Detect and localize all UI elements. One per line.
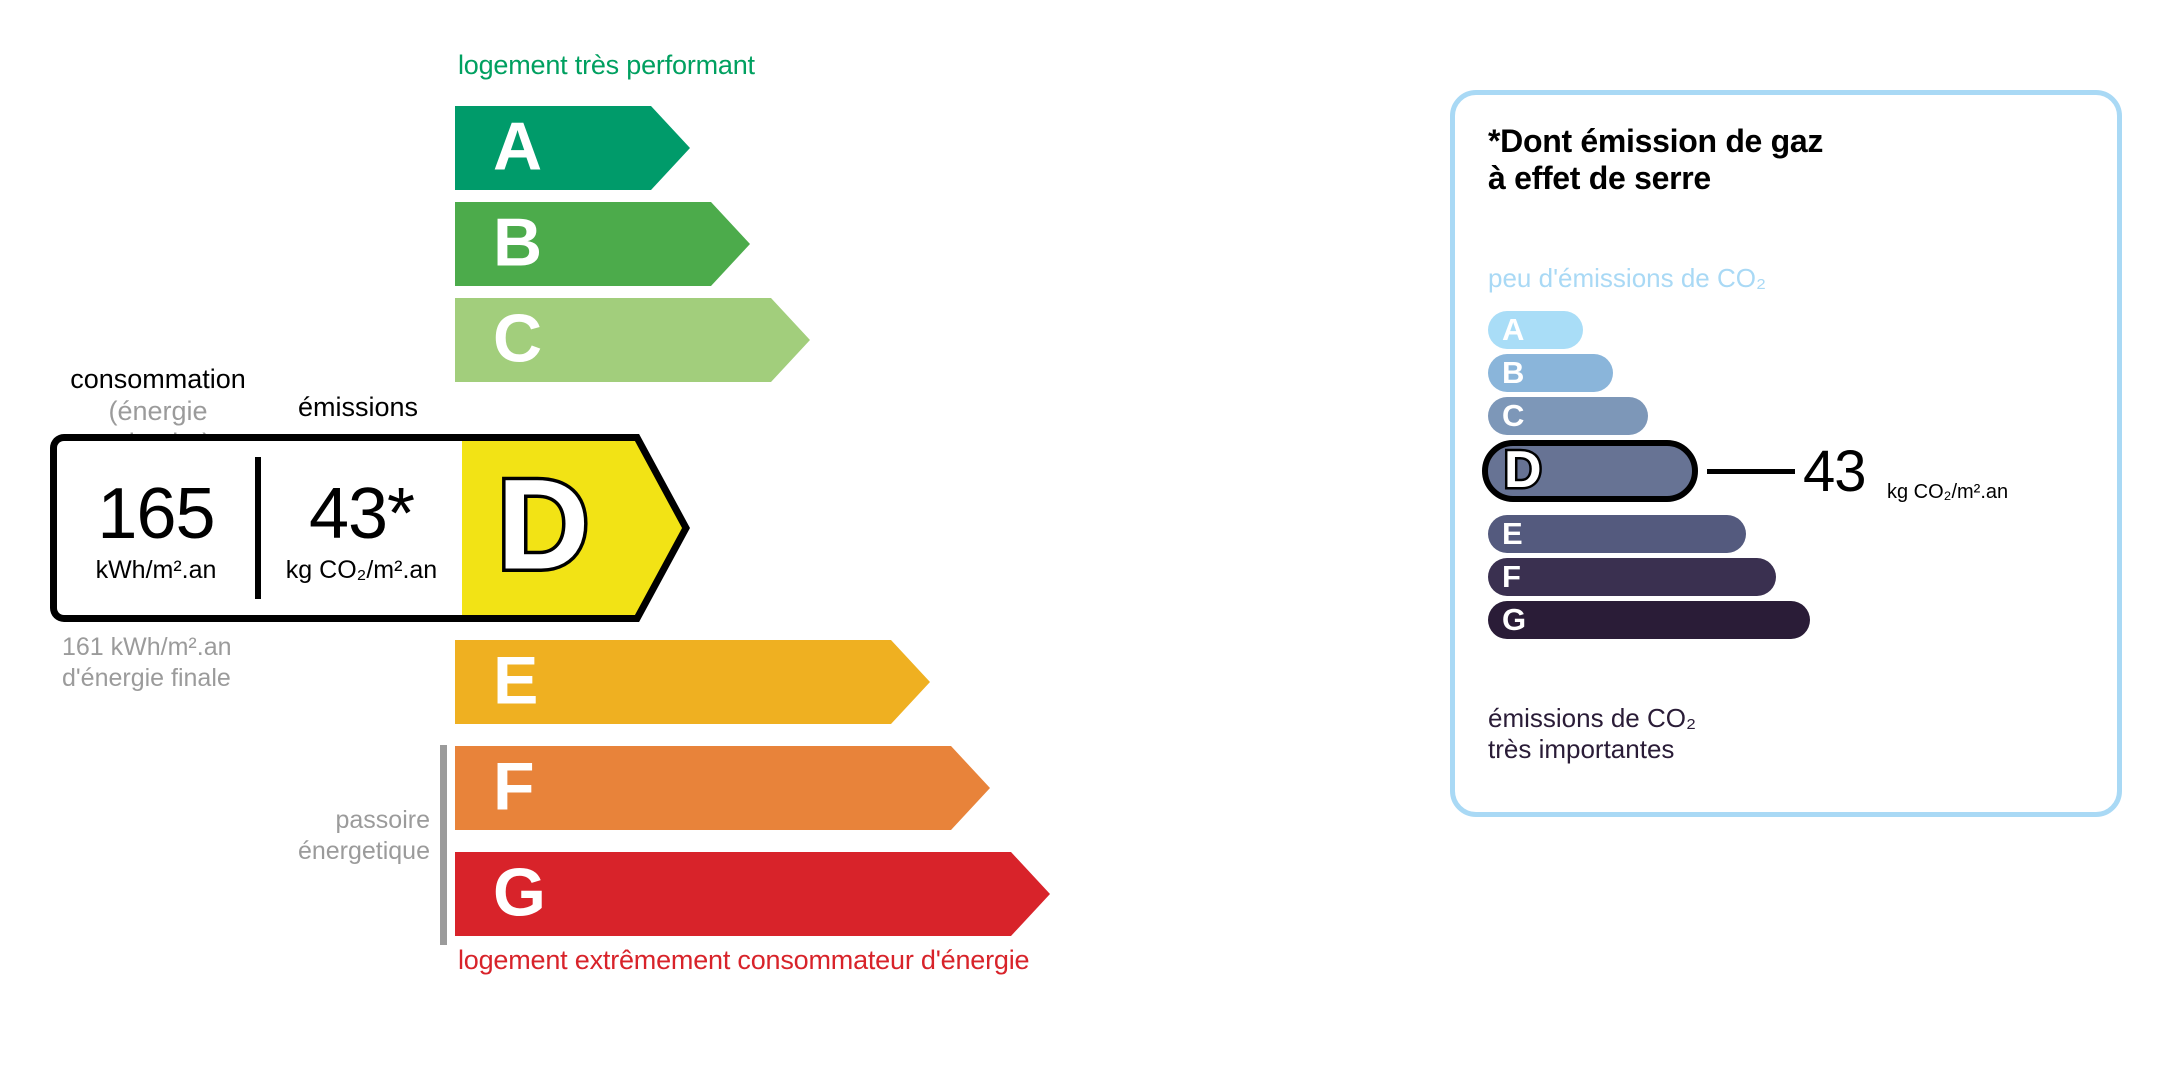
band-letter-f: F <box>493 753 535 821</box>
value-box: 165 kWh/m².an 43* kg CO₂/m².an <box>50 434 462 622</box>
final-energy-line1: 161 kWh/m².an <box>62 632 232 663</box>
co2-bar-d-selected[interactable]: D <box>1482 440 1698 502</box>
co2-title-line1: *Dont émission de gaz <box>1488 123 1823 160</box>
passoire-energetique-label: passoire énergetique <box>230 805 430 866</box>
co2-bar-f[interactable]: F <box>1488 558 1776 596</box>
co2-leader-line <box>1707 469 1795 474</box>
consumption-value: 165 <box>97 478 214 550</box>
co2-bar-letter-d: D <box>1504 444 1542 496</box>
co2-bar-letter-b: B <box>1502 357 1524 388</box>
consumption-header-label: consommation <box>70 364 246 394</box>
energy-band-c[interactable]: C <box>455 298 810 382</box>
band-letter-c: C <box>493 305 542 373</box>
dpe-infographic: logement très performant A B C <box>0 0 2169 1079</box>
consumption-unit: kWh/m².an <box>96 556 217 585</box>
co2-bar-e[interactable]: E <box>1488 515 1746 553</box>
co2-bar-letter-g: G <box>1502 604 1526 635</box>
energy-band-b[interactable]: B <box>455 202 750 286</box>
energy-top-caption: logement très performant <box>458 50 755 81</box>
co2-bar-letter-a: A <box>1502 314 1524 345</box>
band-letter-e: E <box>493 647 538 715</box>
emissions-header: émissions <box>298 392 418 423</box>
co2-bottom-line2: très importantes <box>1488 734 1696 765</box>
co2-bar-b[interactable]: B <box>1488 354 1613 392</box>
passoire-line2: énergetique <box>230 836 430 867</box>
energy-band-f[interactable]: F <box>455 746 990 830</box>
co2-bottom-line1: émissions de CO₂ <box>1488 703 1696 734</box>
passoire-line1: passoire <box>230 805 430 836</box>
co2-top-caption: peu d'émissions de CO₂ <box>1488 263 1766 294</box>
energy-band-e[interactable]: E <box>455 640 930 724</box>
co2-value: 43 <box>1803 443 1866 501</box>
co2-title-line2: à effet de serre <box>1488 160 1823 197</box>
band-letter-d: D <box>497 461 589 589</box>
co2-bar-letter-e: E <box>1502 518 1523 549</box>
energy-band-d-selected[interactable]: D <box>455 434 690 622</box>
co2-bottom-caption: émissions de CO₂ très importantes <box>1488 703 1696 765</box>
passoire-bracket <box>440 745 447 945</box>
co2-emissions-panel: *Dont émission de gaz à effet de serre p… <box>1450 90 2122 817</box>
final-energy-note: 161 kWh/m².an d'énergie finale <box>62 632 232 693</box>
co2-value-unit: kg CO₂/m².an <box>1887 481 2008 504</box>
co2-bar-c[interactable]: C <box>1488 397 1648 435</box>
band-arrow-shape-a <box>455 106 690 190</box>
emissions-value: 43* <box>309 478 414 550</box>
co2-bar-g[interactable]: G <box>1488 601 1810 639</box>
co2-bar-a[interactable]: A <box>1488 311 1583 349</box>
consumption-value-cell: 165 kWh/m².an <box>57 441 255 615</box>
energy-band-a[interactable]: A <box>455 106 690 190</box>
emissions-value-cell: 43* kg CO₂/m².an <box>261 441 462 615</box>
energy-bottom-caption: logement extrêmement consommateur d'éner… <box>458 945 1029 976</box>
co2-bar-letter-f: F <box>1502 561 1521 592</box>
final-energy-line2: d'énergie finale <box>62 663 232 694</box>
band-arrow-shape-f <box>455 746 990 830</box>
co2-bar-letter-c: C <box>1502 400 1524 431</box>
co2-panel-title: *Dont émission de gaz à effet de serre <box>1488 123 1823 198</box>
emissions-unit: kg CO₂/m².an <box>286 556 437 585</box>
energy-band-g[interactable]: G <box>455 852 1050 936</box>
band-letter-a: A <box>493 113 542 181</box>
energy-performance-panel: logement très performant A B C <box>0 0 1400 1079</box>
band-letter-b: B <box>493 209 542 277</box>
band-letter-g: G <box>493 859 546 927</box>
